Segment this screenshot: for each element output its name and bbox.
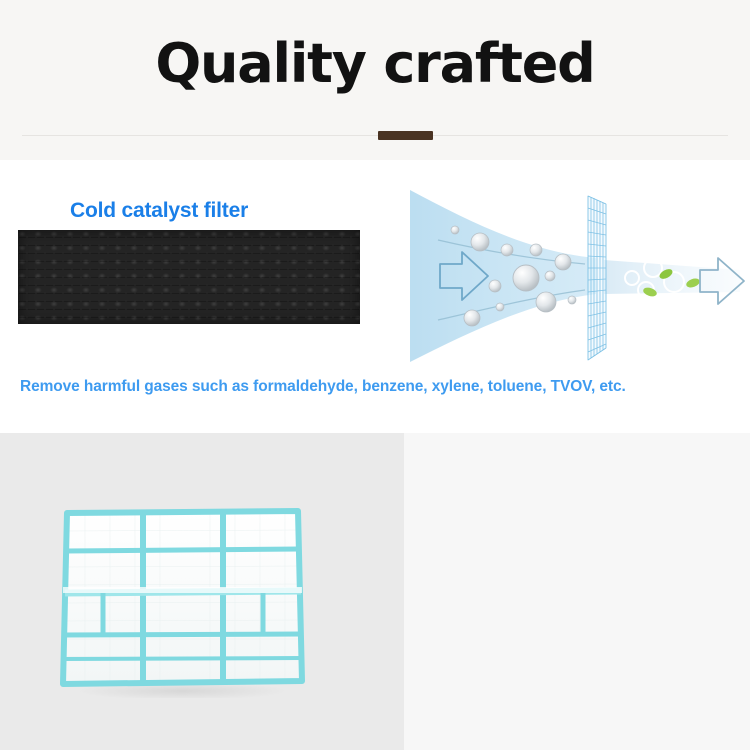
header-divider-rule: [22, 135, 728, 136]
activated-carbon-honeycomb-filter-image: [18, 230, 360, 324]
product-detail-page: Quality crafted Cold catalyst filter: [0, 0, 750, 750]
air-filtration-flow-diagram: [400, 182, 750, 362]
cold-catalyst-section: Cold catalyst filter: [0, 160, 750, 433]
white-filter-photo-panel: [0, 433, 404, 750]
white-filter-text-panel: White high-density filter for excellence…: [404, 433, 750, 750]
header-band: Quality crafted: [0, 0, 750, 160]
white-high-density-mesh-filter-image: [55, 503, 310, 698]
cold-catalyst-title: Cold catalyst filter: [70, 199, 248, 223]
page-title: Quality crafted: [0, 36, 750, 93]
cold-catalyst-caption: Remove harmful gases such as formaldehyd…: [20, 378, 734, 396]
white-filter-section: White high-density filter for excellence…: [0, 433, 750, 750]
header-accent-bar: [378, 131, 433, 140]
